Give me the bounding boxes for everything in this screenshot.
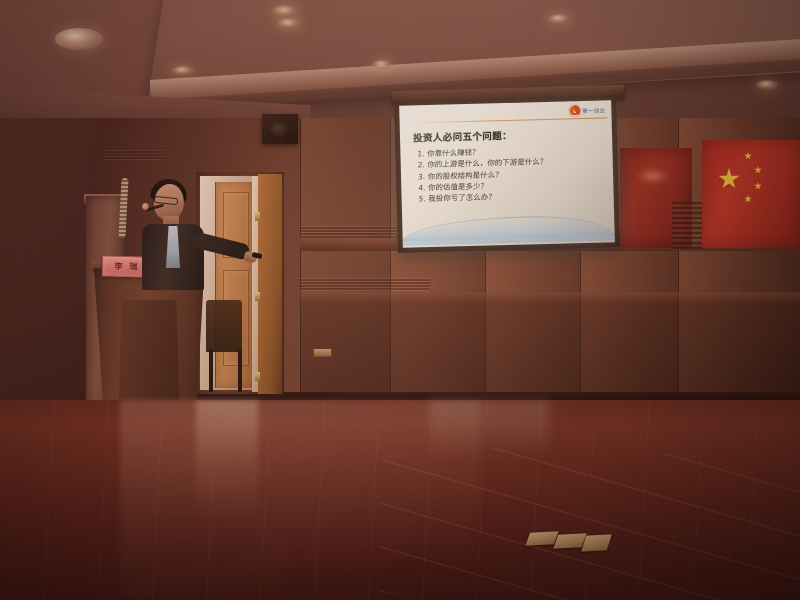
wall-groove-band — [104, 150, 166, 160]
door-hinge-icon — [255, 372, 260, 381]
floor-object — [525, 531, 558, 545]
projection-screen: 第一创业 投资人必问五个问题： 1. 你靠什么赚钱？ 2. 你的上游是什么，你的… — [399, 100, 615, 248]
flag-star-small-icon — [744, 195, 752, 203]
flag-light-reflection — [636, 168, 670, 184]
swirl-logo-icon — [569, 105, 580, 116]
flag-star-small-icon — [754, 182, 762, 190]
nameplate-char-1: 李 — [114, 261, 122, 272]
flag-star-small-icon — [744, 152, 752, 160]
slide-header-rule — [410, 117, 608, 123]
chair-leg — [209, 350, 213, 392]
ceiling-light-icon — [372, 60, 392, 69]
floor-light-sheen — [120, 400, 480, 600]
wall-accent-band — [300, 292, 800, 303]
ceiling-light-icon — [756, 80, 778, 90]
chair-leg — [238, 350, 242, 392]
presentation-slide: 第一创业 投资人必问五个问题： 1. 你靠什么赚钱？ 2. 你的上游是什么，你的… — [399, 100, 615, 248]
chair — [206, 300, 242, 352]
slide-logo: 第一创业 — [569, 104, 605, 116]
china-national-flag — [702, 140, 800, 248]
flag-star-large-icon — [718, 168, 740, 190]
ceiling-light-icon — [272, 5, 298, 17]
microphone-icon — [142, 203, 149, 210]
slide-title: 投资人必问五个问题： — [413, 128, 512, 145]
ceiling-light-icon — [548, 14, 570, 24]
wall-groove-band — [300, 226, 410, 238]
floor-reflection-doorway — [196, 400, 258, 520]
door-frame-right — [258, 174, 282, 394]
ceiling-light-icon — [55, 28, 103, 50]
ceiling-light-icon — [277, 18, 301, 29]
wall-lower-panel — [300, 303, 800, 395]
ceiling-light-icon — [172, 66, 194, 75]
floor-reflection-screen — [430, 400, 550, 460]
conference-room-photo: 第一创业 投资人必问五个问题： 1. 你靠什么赚钱？ 2. 你的上游是什么，你的… — [0, 0, 800, 600]
flag-star-small-icon — [754, 166, 762, 174]
wall-outlet-plate — [313, 348, 332, 357]
door-hinge-icon — [255, 212, 260, 221]
door-hinge-icon — [255, 292, 260, 301]
slide-question-list: 1. 你靠什么赚钱？ 2. 你的上游是什么，你的下游是什么？ 3. 你的股权结构… — [417, 143, 607, 204]
wall-vent-grille — [672, 202, 704, 250]
speaker — [132, 176, 252, 286]
wall-speaker-icon — [262, 114, 298, 144]
wall-groove-band — [300, 278, 430, 291]
slide-brand-text: 第一创业 — [582, 106, 605, 115]
